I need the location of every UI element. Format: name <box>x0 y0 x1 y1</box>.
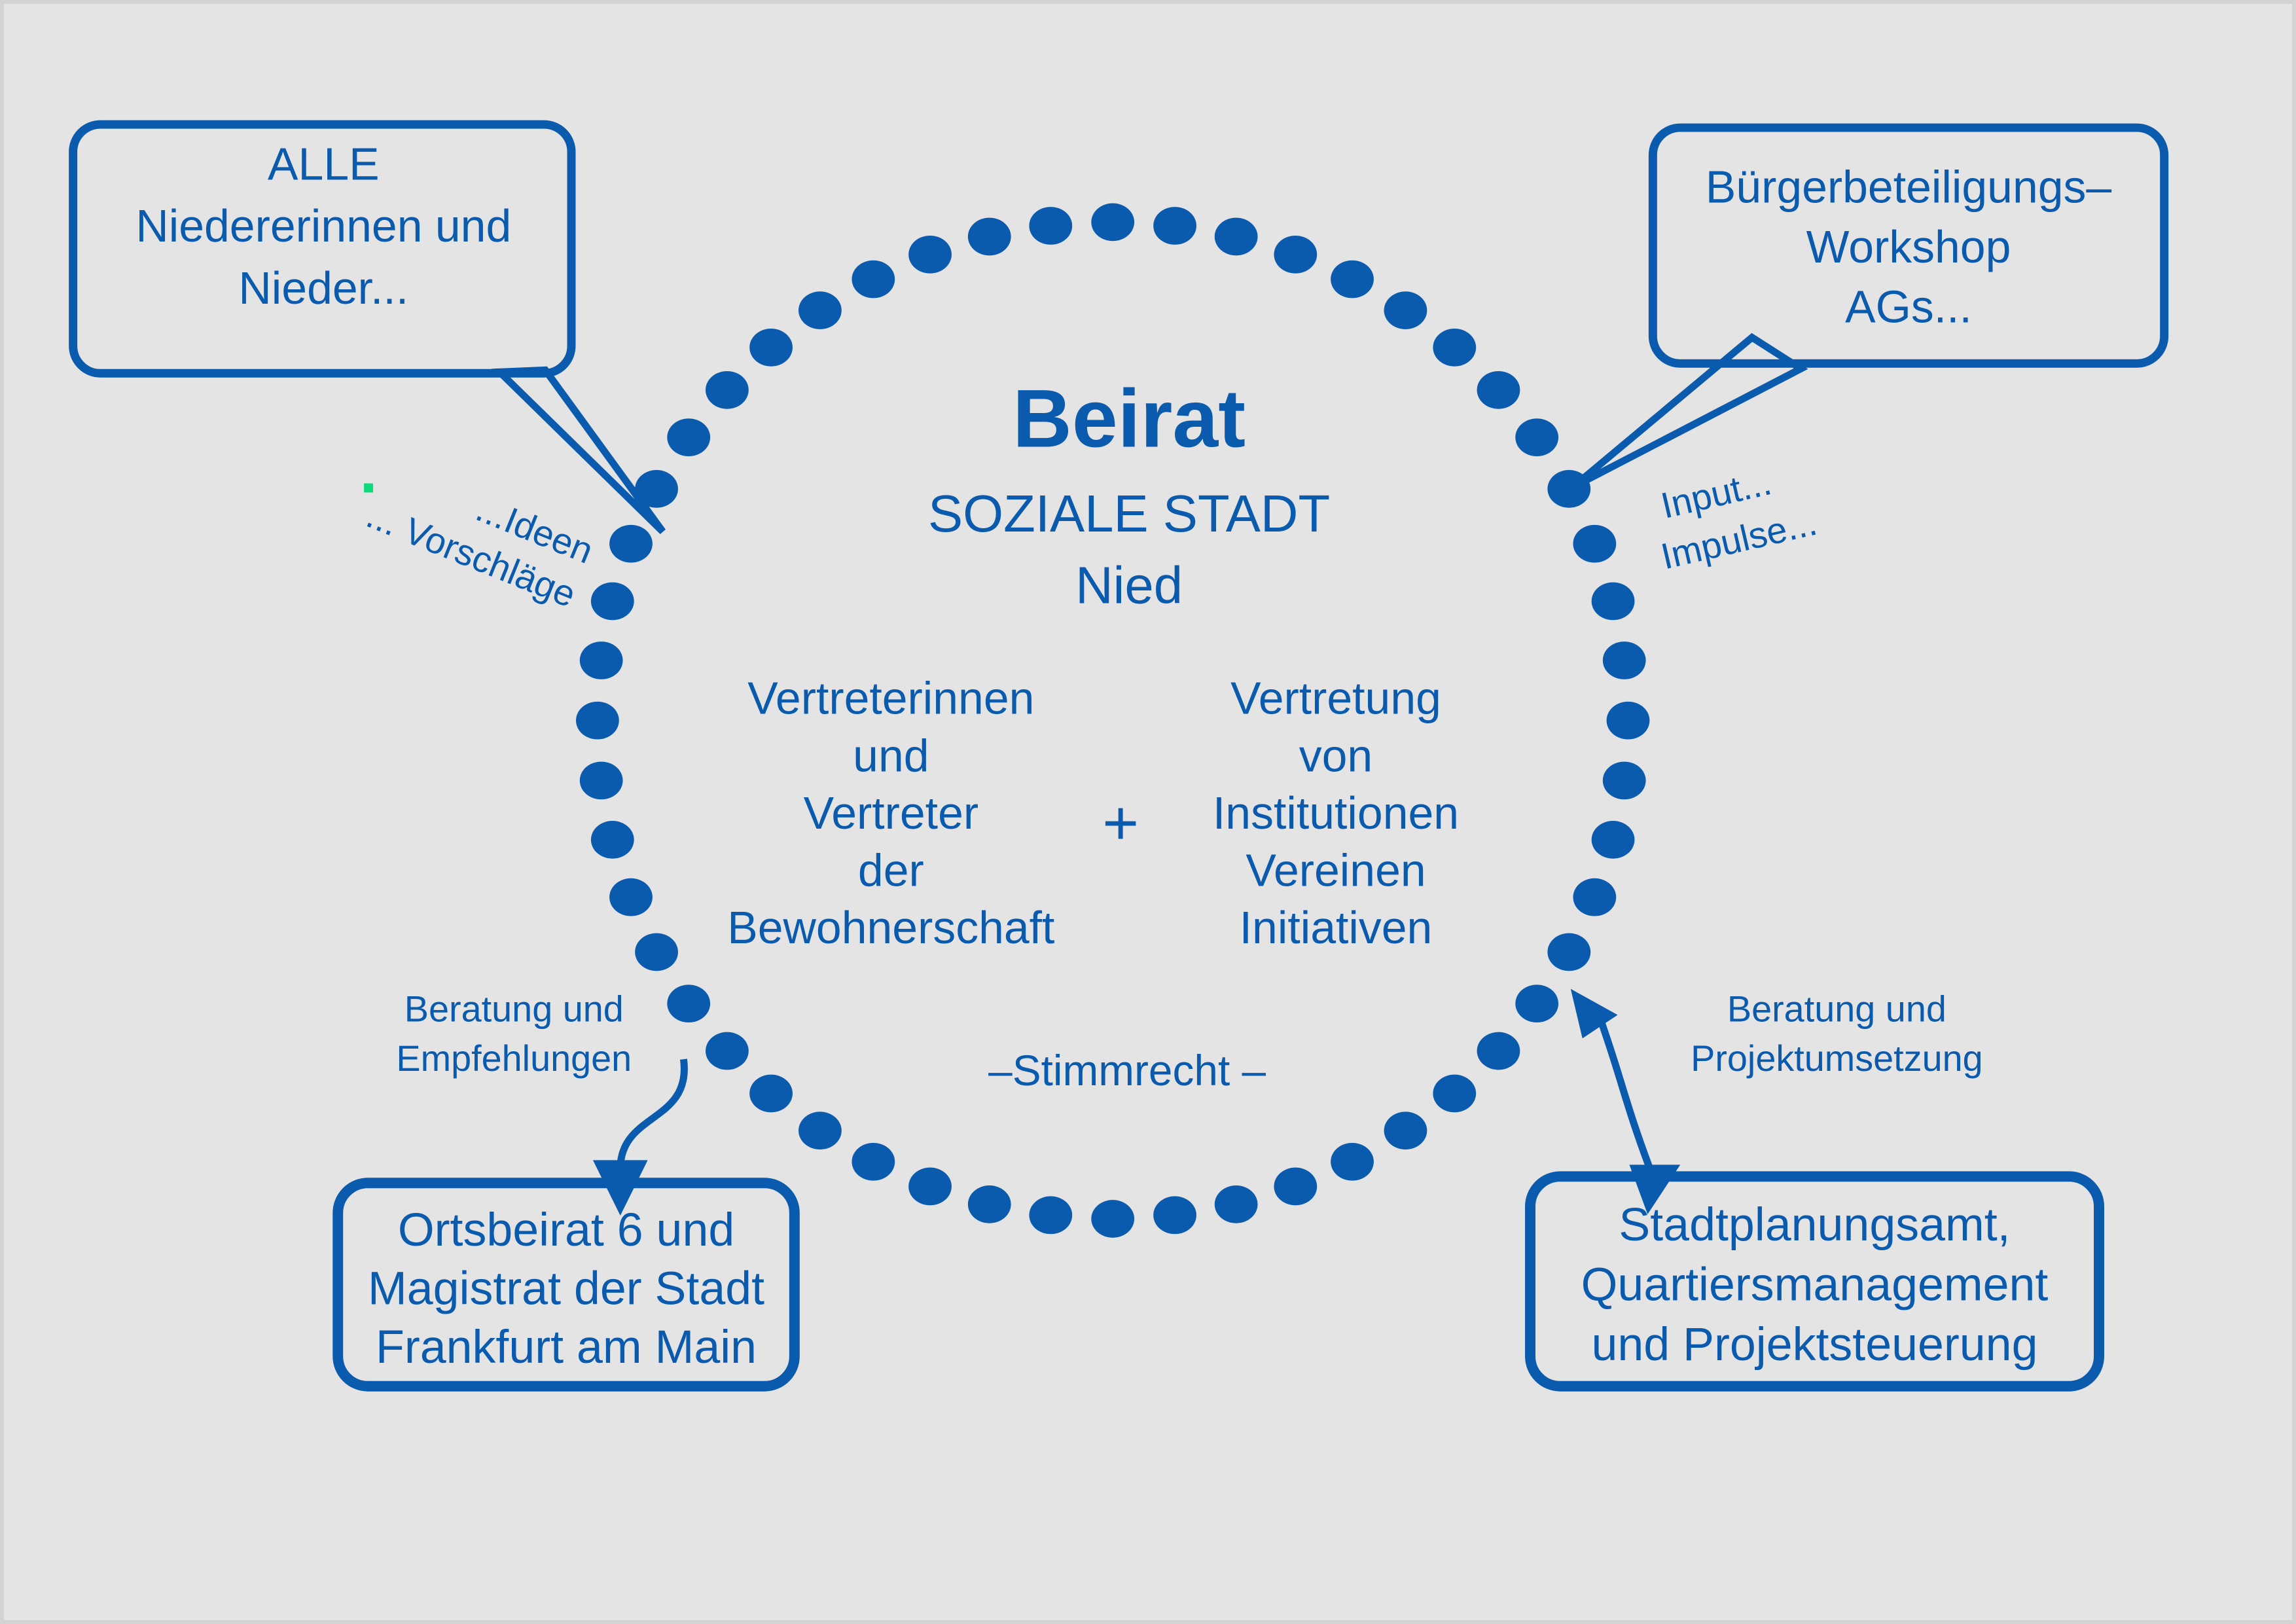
ring-dot <box>852 1143 895 1181</box>
ring-dot <box>968 218 1011 256</box>
ring-dot <box>798 291 842 329</box>
center-cluster: Beirat SOZIALE STADT Nied Vertreterinnen… <box>727 372 1459 1094</box>
bubble-top-left-line-2: Niedererinnen und <box>135 200 511 251</box>
ring-dot <box>1573 525 1616 563</box>
ring-dot <box>1331 1143 1374 1181</box>
label-bottom-left-line-2: Empfehlungen <box>396 1038 632 1079</box>
ring-dot <box>1477 371 1520 409</box>
speech-bubble-top-right[interactable]: Bürgerbeteiligungs– Workshop AGs... <box>1573 128 2164 487</box>
box-bottom-right-line-2: Quartiersmanagement <box>1581 1258 2049 1310</box>
center-title: Beirat <box>1013 372 1246 465</box>
bubble-top-right-line-2: Workshop <box>1806 221 2011 272</box>
label-bottom-left-line-1: Beratung und <box>404 988 624 1029</box>
ring-dot <box>1029 1197 1072 1235</box>
center-footer-stimmrecht: –Stimmrecht – <box>988 1047 1266 1094</box>
ring-dot <box>1091 1200 1134 1238</box>
center-right-line-2: von <box>1299 730 1372 781</box>
ring-dot <box>1274 1168 1317 1206</box>
ring-dot <box>1153 207 1196 245</box>
center-right-line-3: Institutionen <box>1213 787 1459 839</box>
ring-dot <box>1433 329 1476 367</box>
ring-dot <box>706 371 749 409</box>
box-bottom-right-line-1: Stadtplanungsamt, <box>1619 1199 2010 1251</box>
center-left-line-3: Vertreter <box>804 787 979 839</box>
ring-dot <box>1592 821 1635 859</box>
bubble-top-right-line-1: Bürgerbeteiligungs– <box>1706 162 2112 213</box>
center-right-line-1: Vertretung <box>1230 673 1441 724</box>
ring-dot <box>1153 1197 1196 1235</box>
flow-bottom-right: Beratung und Projektumsetzung Stadtplanu… <box>1530 988 2099 1386</box>
ring-dot <box>1274 236 1317 274</box>
connector-label-top-left-group: ...Ideen ... Vorschläge <box>361 483 599 615</box>
center-subtitle-line1: SOZIALE STADT <box>928 484 1330 543</box>
center-left-line-5: Bewohnerschaft <box>727 902 1054 953</box>
ring-dot <box>1573 878 1616 916</box>
arrow-curve-bottom-right <box>1601 1020 1653 1176</box>
ring-dot <box>580 762 623 800</box>
ring-dot <box>667 418 710 456</box>
ring-dot <box>798 1111 842 1149</box>
connector-label-top-right-group: Input... Impulse... <box>1657 461 1821 577</box>
bubble-top-right-line-3: AGs... <box>1845 281 1972 333</box>
green-marker-dot <box>364 483 373 492</box>
ring-dot <box>580 641 623 679</box>
speech-bubble-top-left[interactable]: ALLE Niedererinnen und Nieder... <box>73 124 663 532</box>
ring-dot <box>1384 1111 1427 1149</box>
center-subtitle-line2: Nied <box>1075 556 1183 615</box>
ring-dot <box>609 878 653 916</box>
ring-dot <box>1029 207 1072 245</box>
ring-dot <box>908 1168 952 1206</box>
ring-dot <box>591 821 634 859</box>
ring-dot <box>667 984 710 1022</box>
ring-dot <box>852 261 895 298</box>
box-bottom-left-line-1: Ortsbeirat 6 und <box>398 1204 734 1256</box>
ring-dot <box>1477 1032 1520 1070</box>
ring-dot <box>1433 1075 1476 1113</box>
ring-dot <box>908 236 952 274</box>
ring-dot <box>1091 204 1134 242</box>
plus-sign: + <box>1102 788 1139 858</box>
ring-dot <box>1547 933 1590 971</box>
ring-dot <box>576 702 619 740</box>
center-left-line-4: der <box>858 844 924 895</box>
ring-dot <box>591 583 634 621</box>
ring-dot <box>1603 641 1646 679</box>
center-left-line-2: und <box>853 730 929 781</box>
ring-dot <box>1215 218 1258 256</box>
ring-dot <box>635 933 678 971</box>
label-bottom-right-line-1: Beratung und <box>1727 988 1946 1029</box>
bubble-top-left-line-3: Nieder... <box>238 262 408 314</box>
ring-dot <box>749 329 793 367</box>
center-right-line-4: Vereinen <box>1246 844 1426 895</box>
diagram-canvas: Beirat SOZIALE STADT Nied Vertreterinnen… <box>0 0 2296 1624</box>
ring-dot <box>1515 984 1558 1022</box>
box-bottom-right-line-3: und Projektsteuerung <box>1592 1318 2038 1371</box>
label-bottom-right-line-2: Projektumsetzung <box>1691 1038 1983 1079</box>
ring-dot <box>1603 762 1646 800</box>
ring-dot <box>1331 261 1374 298</box>
arrow-head-up-bottom-right <box>1571 989 1618 1039</box>
center-left-line-1: Vertreterinnen <box>747 673 1034 724</box>
ring-dot <box>749 1075 793 1113</box>
ring-dot <box>1607 702 1650 740</box>
center-right-line-5: Initiativen <box>1240 902 1433 953</box>
ring-dot <box>706 1032 749 1070</box>
bubble-top-left-line-1: ALLE <box>268 139 380 190</box>
ring-dot <box>1515 418 1558 456</box>
organigram-svg: Beirat SOZIALE STADT Nied Vertreterinnen… <box>4 4 2292 1620</box>
ring-dot <box>609 525 653 563</box>
ring-dot <box>1215 1185 1258 1223</box>
box-bottom-left-line-2: Magistrat der Stadt <box>368 1262 764 1314</box>
ring-dot <box>1592 583 1635 621</box>
box-bottom-left-line-3: Frankfurt am Main <box>376 1321 757 1373</box>
ring-dot <box>1384 291 1427 329</box>
ring-dot <box>968 1185 1011 1223</box>
